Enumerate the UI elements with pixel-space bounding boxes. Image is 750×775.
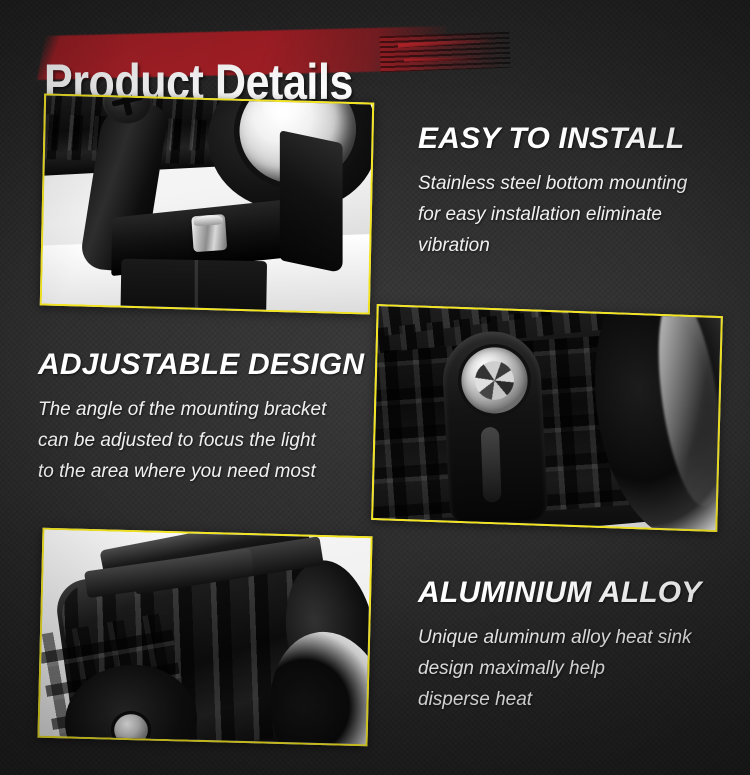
stainless-steel-bolt (191, 214, 227, 252)
heading-adjustable-design: ADJUSTABLE DESIGN (38, 348, 368, 382)
product-photo-easy-to-install (40, 93, 374, 314)
bracket-slot (481, 427, 502, 503)
body-adjustable-design: The angle of the mounting bracket can be… (38, 394, 368, 487)
knob-texture (475, 361, 514, 400)
body-line: can be adjusted to focus the light (38, 425, 368, 456)
body-line: for easy installation eliminate (418, 199, 736, 230)
text-block-adjustable-design: ADJUSTABLE DESIGN The angle of the mount… (38, 348, 368, 487)
body-line: Stainless steel bottom mounting (418, 168, 736, 199)
page-header: Product Details (0, 0, 750, 96)
heading-aluminium-alloy: ALUMINIUM ALLOY (418, 576, 736, 610)
product-photo-adjustable-design (371, 304, 723, 532)
heading-easy-to-install: EASY TO INSTALL (418, 122, 736, 156)
photo-scene-3 (39, 530, 370, 744)
text-block-easy-to-install: EASY TO INSTALL Stainless steel bottom m… (418, 122, 736, 261)
photo-scene-1 (42, 96, 372, 313)
product-photo-aluminium-alloy (37, 528, 372, 747)
body-line: The angle of the mounting bracket (38, 394, 368, 425)
body-line: vibration (418, 230, 736, 261)
mounting-bracket-side (280, 130, 343, 273)
text-block-aluminium-alloy: ALUMINIUM ALLOY Unique aluminum alloy he… (418, 576, 736, 715)
side-knob-bolt (114, 714, 148, 744)
photo-scene-2 (373, 306, 721, 530)
body-line: design maximally help (418, 653, 736, 684)
mounting-post (120, 259, 267, 313)
product-details-page: Product Details (0, 0, 750, 775)
body-easy-to-install: Stainless steel bottom mounting for easy… (418, 168, 736, 261)
body-line: to the area where you need most (38, 456, 368, 487)
body-aluminium-alloy: Unique aluminum alloy heat sink design m… (418, 622, 736, 715)
mounting-post-seam (195, 260, 198, 313)
body-line: disperse heat (418, 684, 736, 715)
body-line: Unique aluminum alloy heat sink (418, 622, 736, 653)
small-nut (107, 311, 125, 312)
